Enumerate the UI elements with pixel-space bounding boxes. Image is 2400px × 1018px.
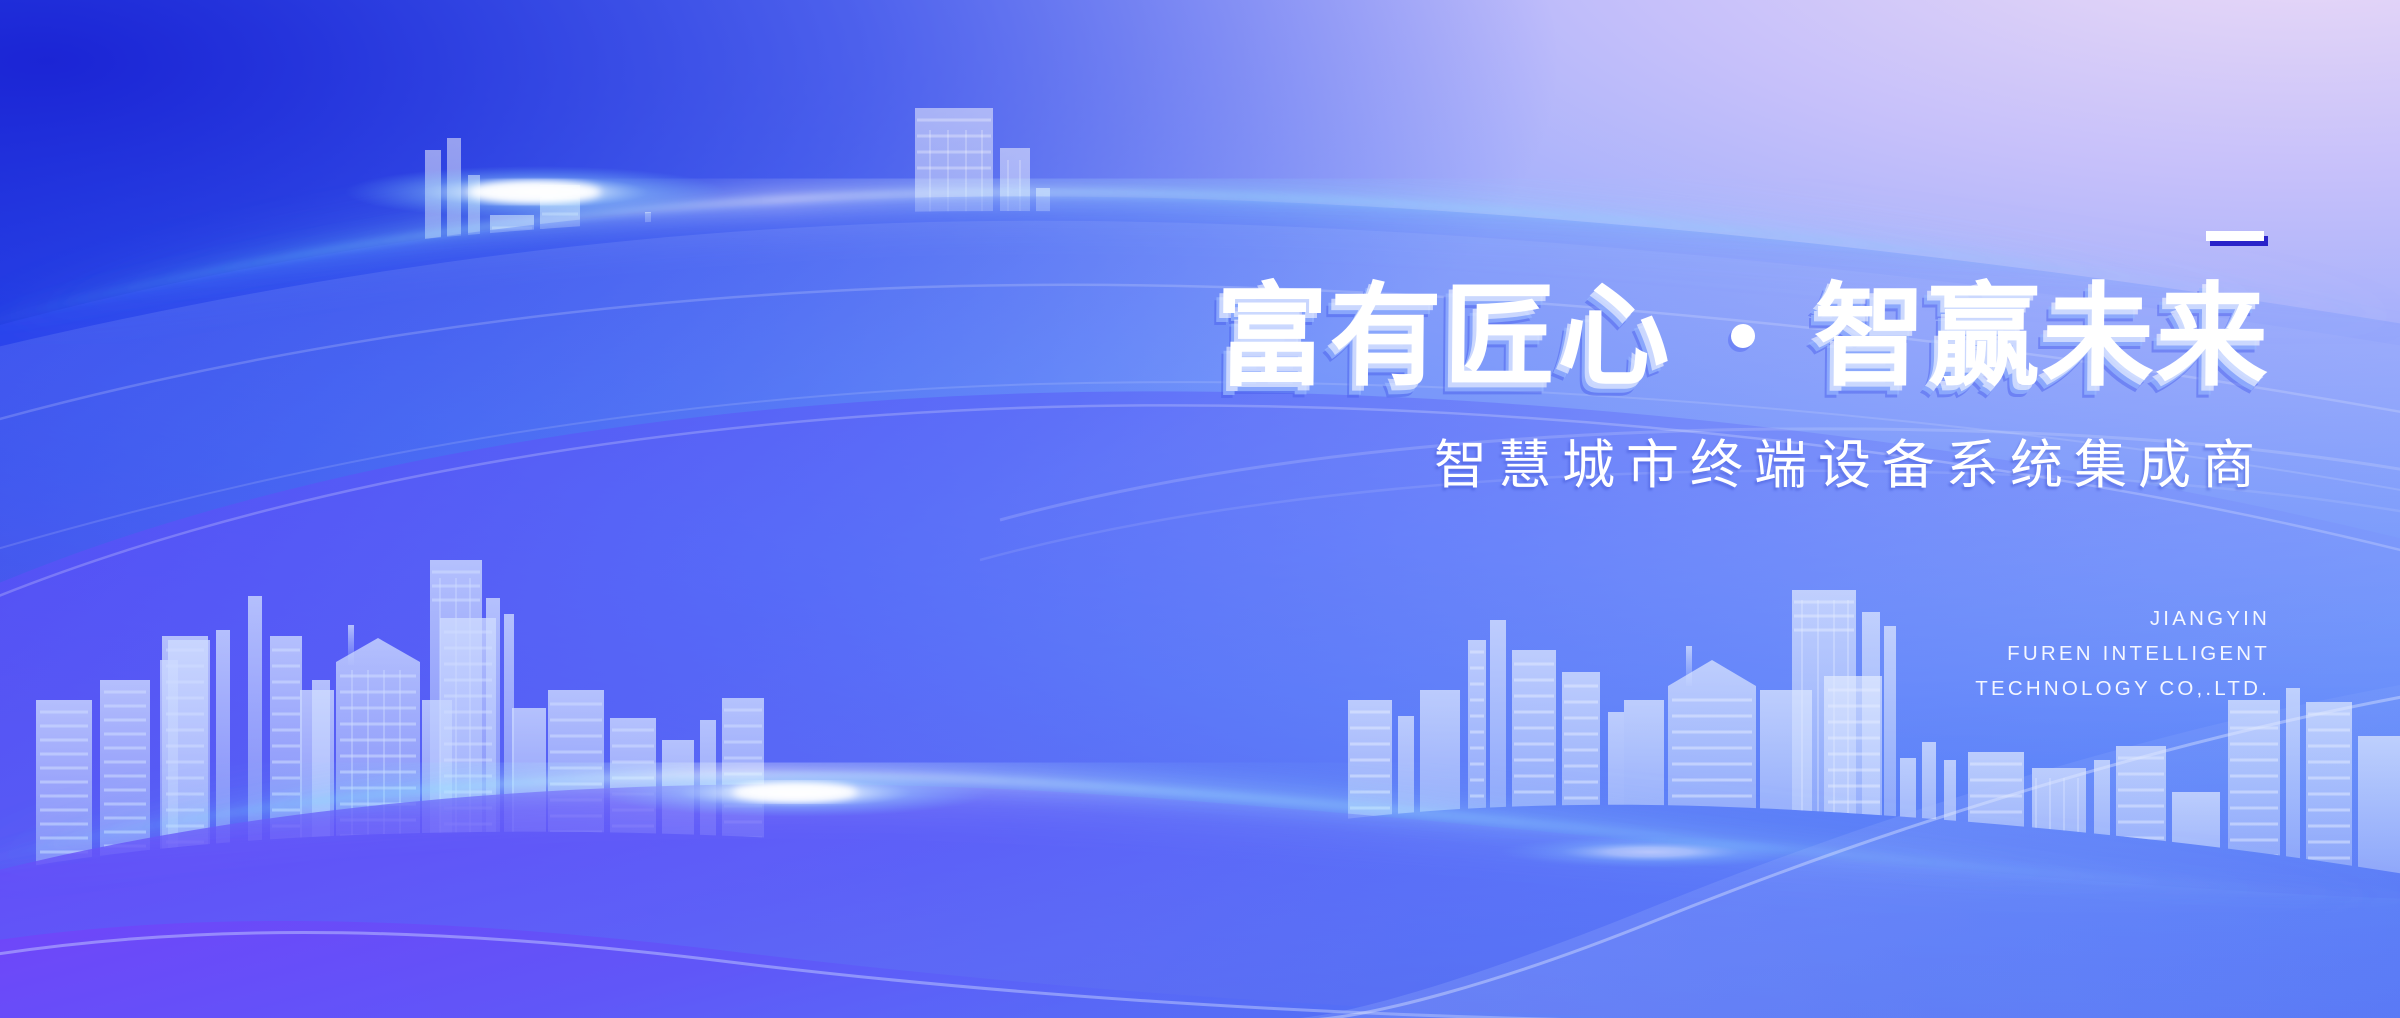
subheadline: 智慧城市终端设备系统集成商 — [1090, 423, 2270, 499]
hero-banner: 富有匠心 智赢未来 智慧城市终端设备系统集成商 JIANGYIN FUREN I… — [0, 0, 2400, 1018]
company-line-3: TECHNOLOGY CO,.LTD. — [1090, 671, 2270, 706]
headline-right: 智赢未来 — [1813, 274, 2270, 399]
hero-text-block: 富有匠心 智赢未来 智慧城市终端设备系统集成商 JIANGYIN FUREN I… — [1090, 228, 2270, 706]
company-name: JIANGYIN FUREN INTELLIGENT TECHNOLOGY CO… — [1090, 601, 2270, 707]
headline-left: 富有匠心 — [1215, 274, 1672, 399]
accent-rule-row — [1090, 228, 2270, 246]
company-line-2: FUREN INTELLIGENT — [1090, 636, 2270, 671]
headline-separator-dot-icon — [1731, 324, 1755, 348]
headline: 富有匠心 智赢未来 — [1089, 278, 2270, 397]
company-line-1: JIANGYIN — [1090, 601, 2270, 636]
accent-rule-icon — [2206, 231, 2264, 241]
